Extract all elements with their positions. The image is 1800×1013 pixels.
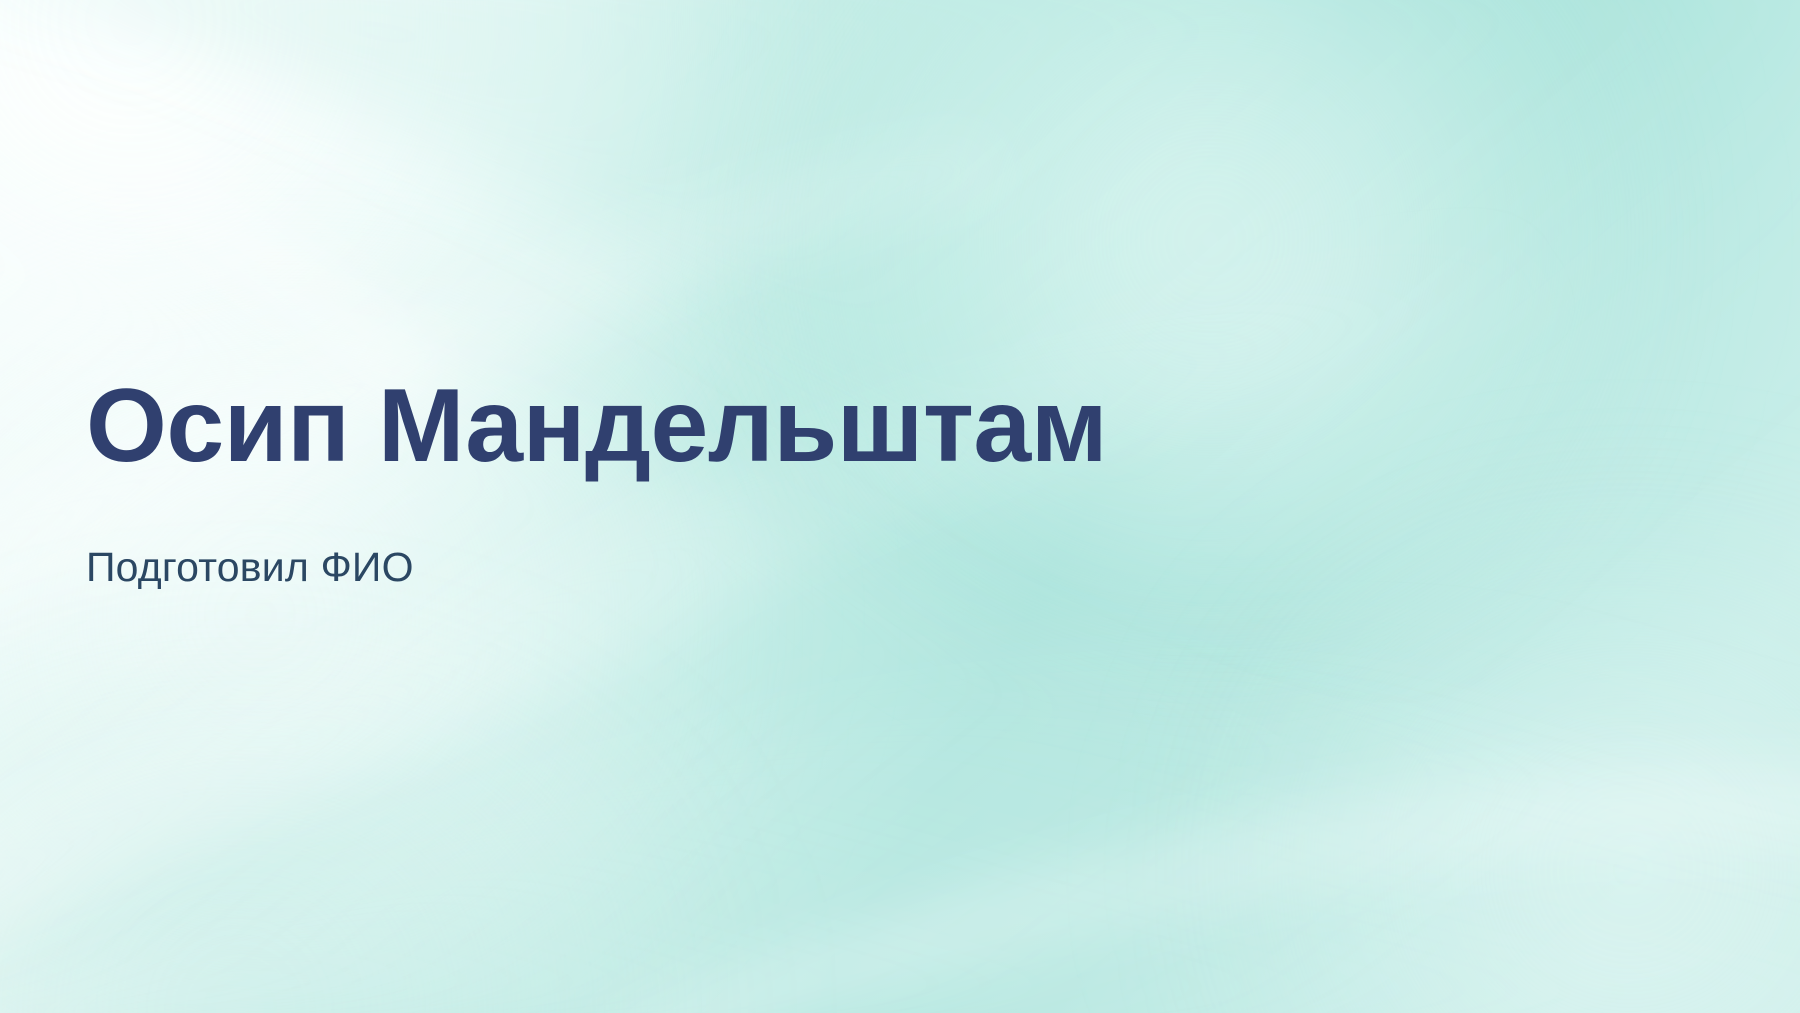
slide-text-block: Осип Мандельштам Подготовил ФИО xyxy=(86,372,1646,592)
lower-diagonal-band xyxy=(0,220,1560,1000)
bottom-sweep-wave xyxy=(0,626,1800,1013)
bottom-corner-wave xyxy=(600,764,1800,1013)
upper-left-wisp xyxy=(0,40,440,404)
slide-subtitle: Подготовил ФИО xyxy=(86,481,1646,592)
background-glow-bottom-left-deep xyxy=(0,700,740,1013)
background-glow-bottom-right xyxy=(1180,560,1800,1013)
page-title: Осип Мандельштам xyxy=(86,372,1646,481)
title-slide: Осип Мандельштам Подготовил ФИО xyxy=(0,0,1800,1013)
